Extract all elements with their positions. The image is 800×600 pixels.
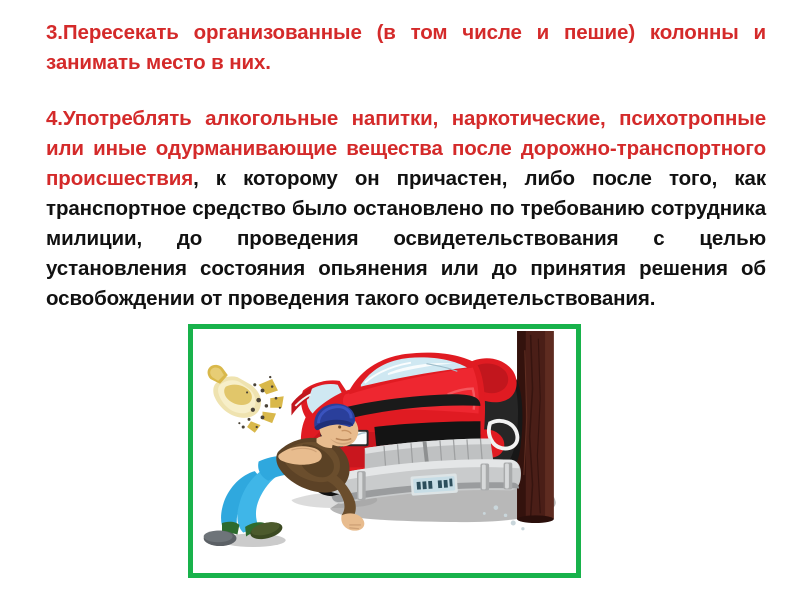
illustration-inner [195, 331, 574, 571]
slide-canvas: 3.Пересекать организованные (в том числе… [0, 0, 800, 600]
slide-text-body: 3.Пересекать организованные (в том числе… [46, 18, 766, 314]
drunk-driving-crash-illustration [195, 331, 574, 571]
wooden-pole [517, 331, 554, 523]
paragraph-item-4: 4.Употреблять алкогольные напитки, нарко… [46, 104, 766, 314]
illustration-frame [188, 324, 581, 578]
license-plate [410, 473, 458, 495]
paragraph-item-3: 3.Пересекать организованные (в том числе… [46, 18, 766, 78]
